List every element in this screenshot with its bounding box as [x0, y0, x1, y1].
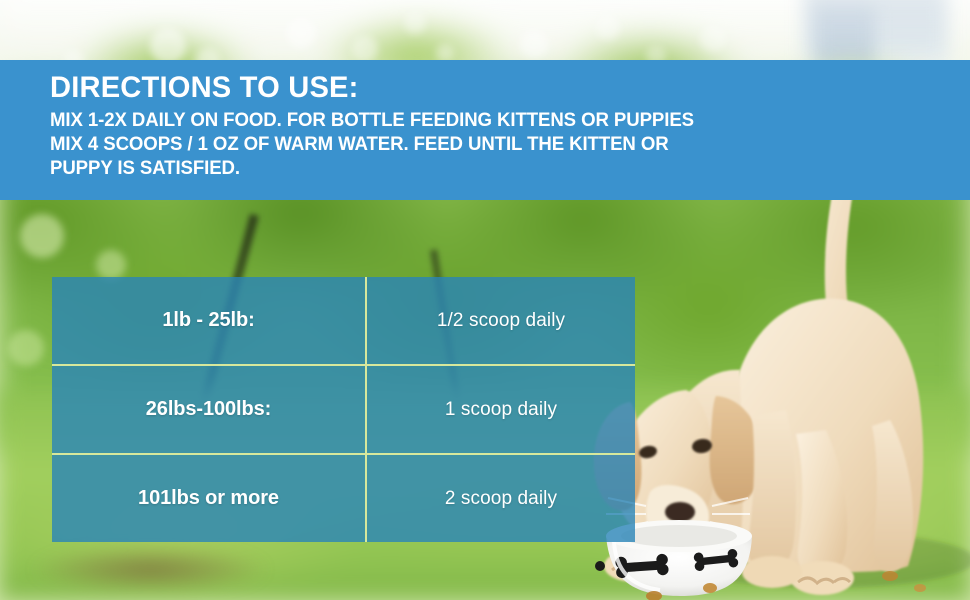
weight-range-cell: 1lb - 25lb:	[52, 277, 366, 365]
table-row: 1lb - 25lb: 1/2 scoop daily	[52, 277, 635, 365]
bokeh-dot	[520, 30, 548, 58]
poster-canvas: DIRECTIONS TO USE: MIX 1-2X DAILY ON FOO…	[0, 0, 970, 600]
dose-amount-cell: 1 scoop daily	[366, 365, 635, 454]
bokeh-dot	[20, 214, 64, 258]
dirt-patch	[30, 547, 270, 592]
dosage-table-body: 1lb - 25lb: 1/2 scoop daily 26lbs-100lbs…	[52, 277, 635, 542]
bokeh-dot	[96, 250, 126, 280]
dose-amount-cell: 2 scoop daily	[366, 454, 635, 542]
bokeh-dot	[352, 36, 378, 62]
bokeh-dot	[404, 12, 426, 34]
table-row: 26lbs-100lbs: 1 scoop daily	[52, 365, 635, 454]
weight-range-cell: 26lbs-100lbs:	[52, 365, 366, 454]
directions-banner: DIRECTIONS TO USE: MIX 1-2X DAILY ON FOO…	[0, 60, 970, 200]
banner-body-text: MIX 1-2X DAILY ON FOOD. FOR BOTTLE FEEDI…	[50, 108, 719, 180]
weight-range-cell: 101lbs or more	[52, 454, 366, 542]
bokeh-dot	[8, 330, 44, 366]
bokeh-dot	[286, 18, 316, 48]
dose-amount-cell: 1/2 scoop daily	[366, 277, 635, 365]
dosage-table: 1lb - 25lb: 1/2 scoop daily 26lbs-100lbs…	[52, 277, 635, 542]
bokeh-dot	[150, 28, 186, 64]
table-row: 101lbs or more 2 scoop daily	[52, 454, 635, 542]
banner-title: DIRECTIONS TO USE:	[50, 71, 942, 105]
